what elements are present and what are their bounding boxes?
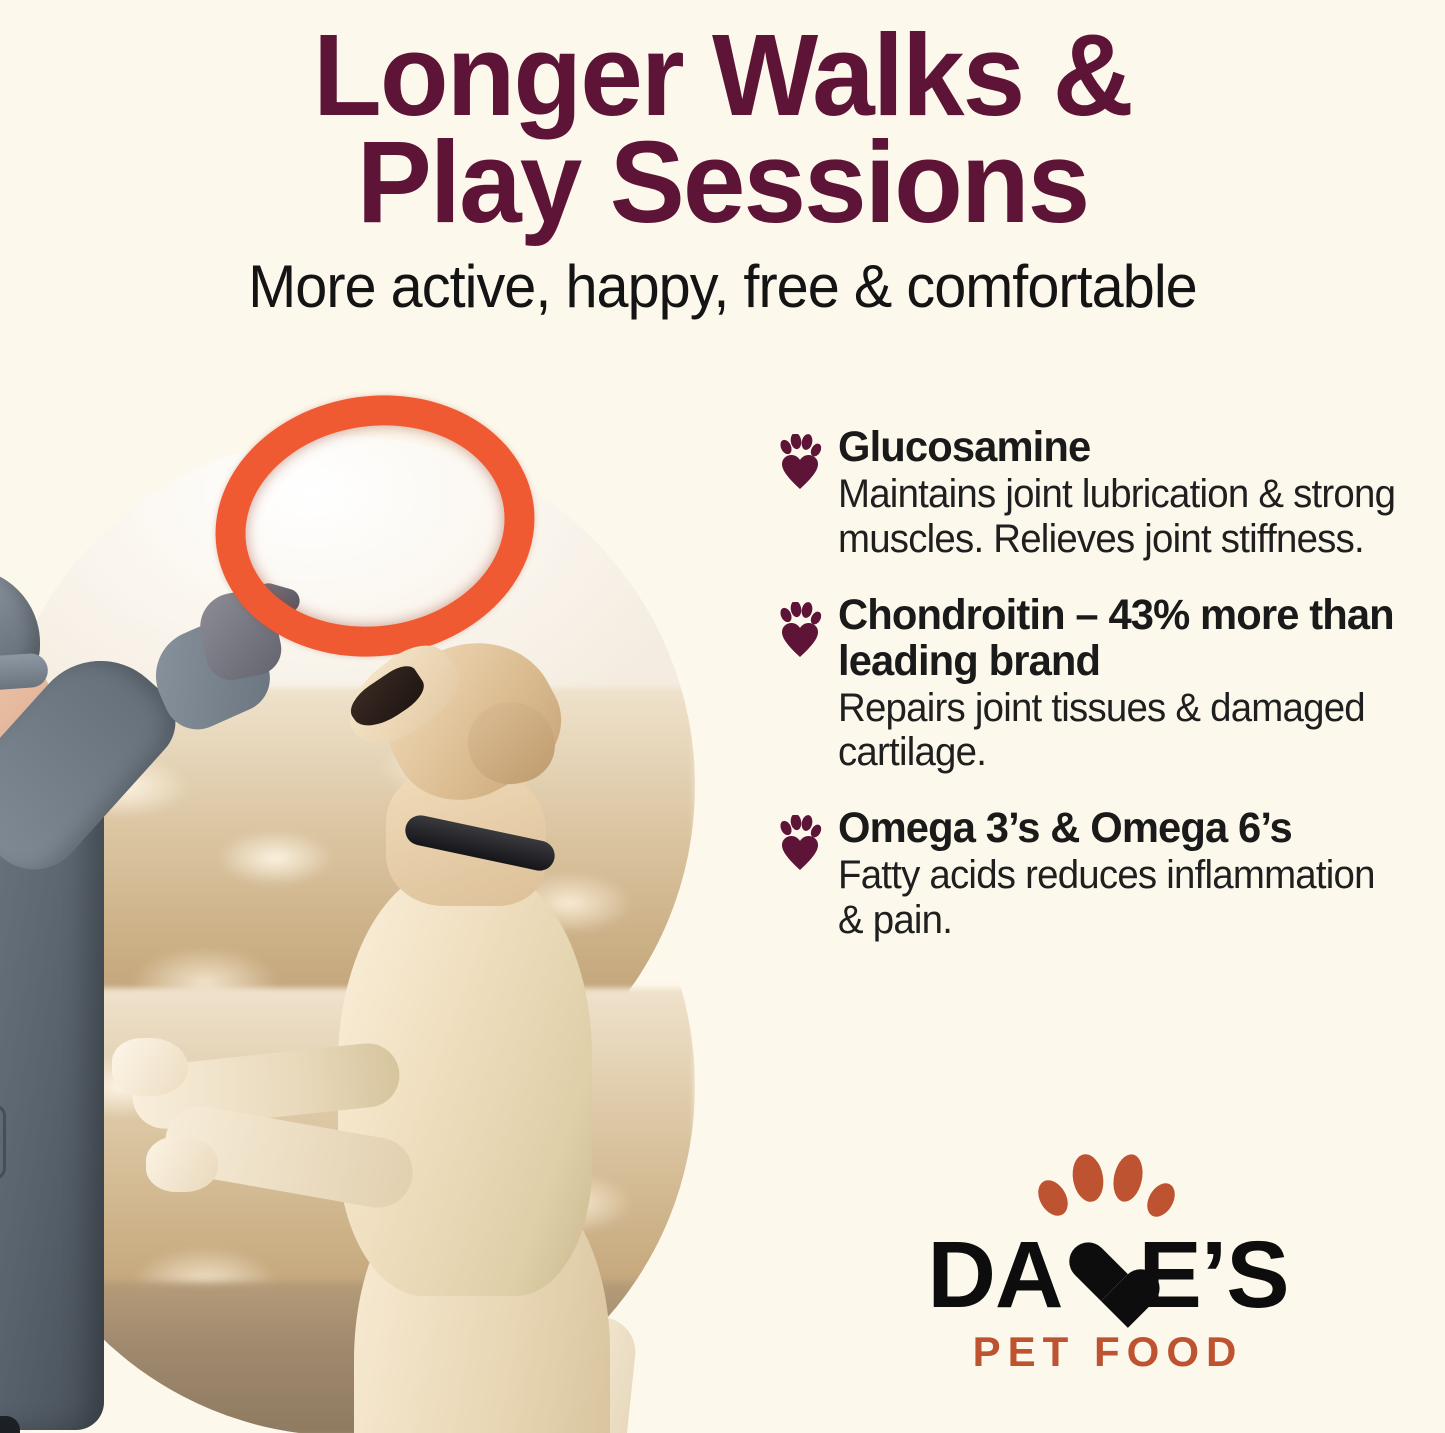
paw-heart-icon xyxy=(778,602,822,658)
benefits-list: Glucosamine Maintains joint lubrication … xyxy=(778,424,1433,943)
logo-tagline: PET FOOD xyxy=(893,1328,1323,1376)
benefit-body: Omega 3’s & Omega 6’s Fatty acids reduce… xyxy=(838,805,1433,943)
benefit-item-omega: Omega 3’s & Omega 6’s Fatty acids reduce… xyxy=(778,805,1433,943)
benefit-item-chondroitin: Chondroitin – 43% more than leading bran… xyxy=(778,592,1433,776)
dog-paw-upper xyxy=(112,1038,188,1096)
benefit-description: Repairs joint tissues & damaged cartilag… xyxy=(838,686,1409,776)
page-title: Longer Walks & Play Sessions xyxy=(22,0,1424,235)
title-line-2: Play Sessions xyxy=(22,129,1424,236)
benefit-heading: Glucosamine xyxy=(838,424,1415,470)
benefit-description: Fatty acids reduces inflammation & pain. xyxy=(838,853,1409,943)
dog-paw-lower xyxy=(146,1136,218,1192)
dog-figure xyxy=(190,616,710,1433)
benefit-heading: Chondroitin – 43% more than leading bran… xyxy=(838,592,1415,684)
woman-coat-pocket xyxy=(0,1104,6,1180)
promo-infographic: Longer Walks & Play Sessions More active… xyxy=(0,0,1445,1433)
hero-photo: No Extra Supplements Needed! xyxy=(0,436,780,1433)
paw-heart-icon xyxy=(778,434,822,490)
title-line-1: Longer Walks & xyxy=(22,22,1424,129)
woman-figure xyxy=(0,508,220,1433)
benefit-item-glucosamine: Glucosamine Maintains joint lubrication … xyxy=(778,424,1433,562)
benefit-body: Glucosamine Maintains joint lubrication … xyxy=(838,424,1433,562)
benefit-description: Maintains joint lubrication & strong mus… xyxy=(838,472,1409,562)
brand-logo: DA E’S PET FOOD xyxy=(893,1148,1323,1376)
page-subtitle: More active, happy, free & comfortable xyxy=(29,235,1416,317)
logo-wordmark: DA E’S xyxy=(893,1230,1323,1320)
paw-toes-icon xyxy=(1033,1148,1183,1226)
paw-heart-icon xyxy=(778,815,822,871)
logo-word-part-1: DA xyxy=(927,1230,1062,1320)
benefit-heading: Omega 3’s & Omega 6’s xyxy=(838,805,1415,851)
logo-word-part-2: E’S xyxy=(1139,1230,1289,1320)
header: Longer Walks & Play Sessions More active… xyxy=(0,0,1445,317)
benefit-body: Chondroitin – 43% more than leading bran… xyxy=(838,592,1433,776)
heart-icon xyxy=(1065,1239,1137,1311)
